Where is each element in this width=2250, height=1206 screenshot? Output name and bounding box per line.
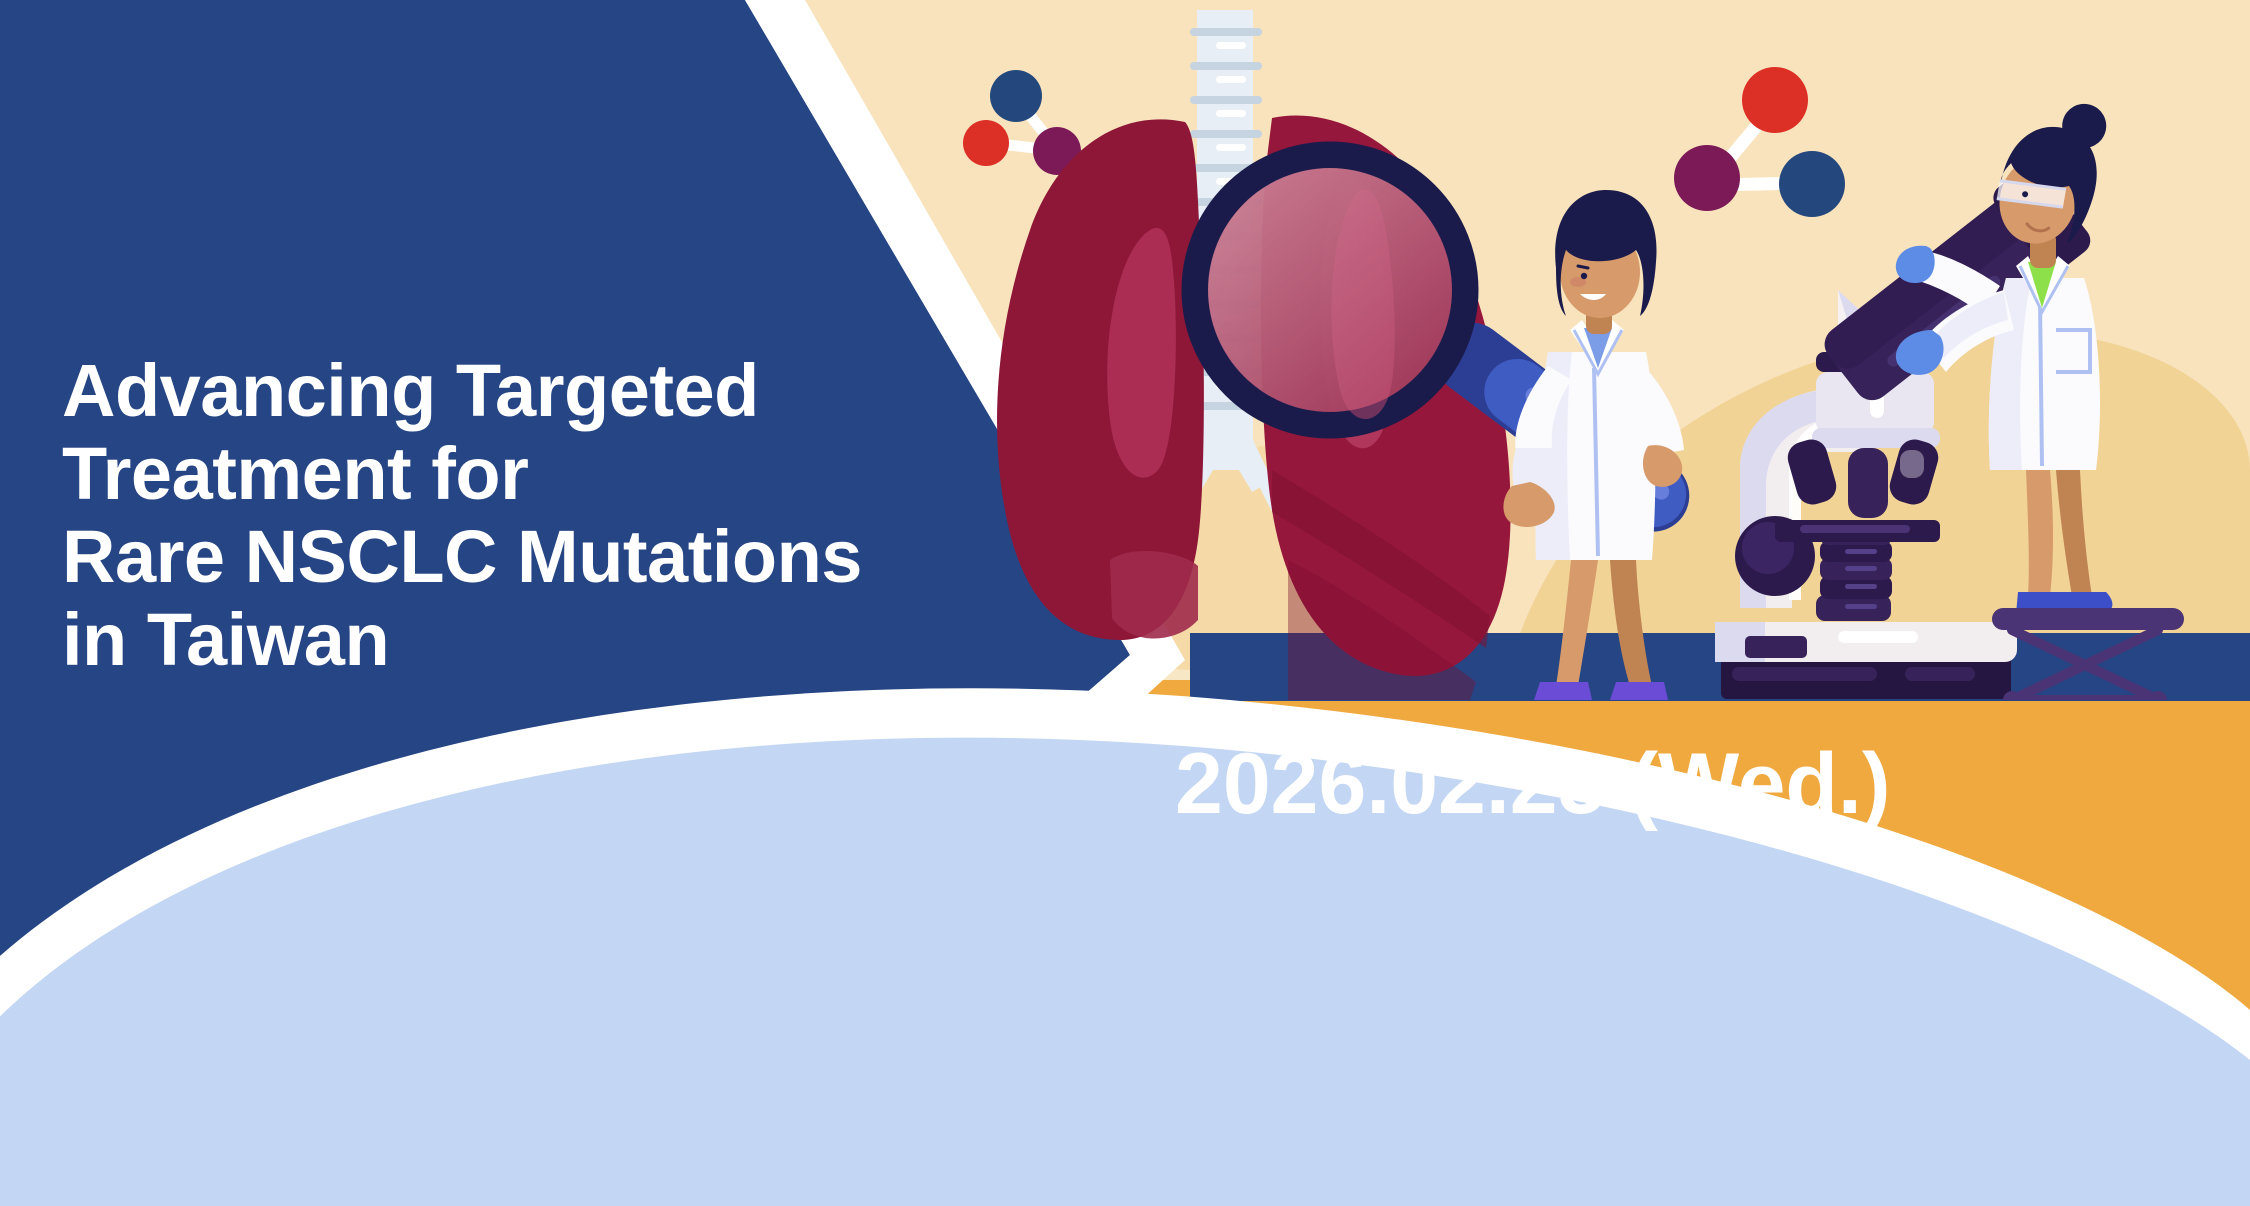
event-date: 2026.02.25 (Wed.) xyxy=(1175,735,1890,834)
molecule-node-purple xyxy=(1674,145,1740,211)
molecule-node-red xyxy=(1742,67,1808,133)
molecule-node-blue xyxy=(1779,151,1845,217)
banner-title: Advancing Targeted Treatment for Rare NS… xyxy=(62,350,762,682)
event-banner: Advancing Targeted Treatment for Rare NS… xyxy=(0,0,2250,1206)
molecule-right-icon xyxy=(1674,67,1845,217)
scientist-left xyxy=(1503,190,1684,700)
hand xyxy=(1643,445,1682,487)
step-stool xyxy=(1992,608,2184,709)
leg xyxy=(2026,470,2053,596)
leg xyxy=(1610,560,1652,686)
glove xyxy=(1896,246,1935,283)
molecule-left-icon xyxy=(963,70,1081,175)
title-line-2: Treatment for xyxy=(62,433,762,516)
shoe xyxy=(1610,682,1668,700)
molecule-node-blue xyxy=(990,70,1042,122)
molecule-node-red xyxy=(963,120,1009,166)
event-date-text: 2026.02.25 (Wed.) xyxy=(1175,735,1890,834)
stool-scissor-legs xyxy=(2012,630,2158,700)
title-line-4: in Taiwan xyxy=(62,599,762,682)
title-line-3: Rare NSCLC Mutations xyxy=(62,516,762,599)
title-line-1: Advancing Targeted xyxy=(62,350,762,433)
leg xyxy=(1556,560,1598,686)
objective-lenses xyxy=(1784,436,1942,518)
leg xyxy=(2056,470,2092,596)
shoe xyxy=(1534,682,1592,700)
